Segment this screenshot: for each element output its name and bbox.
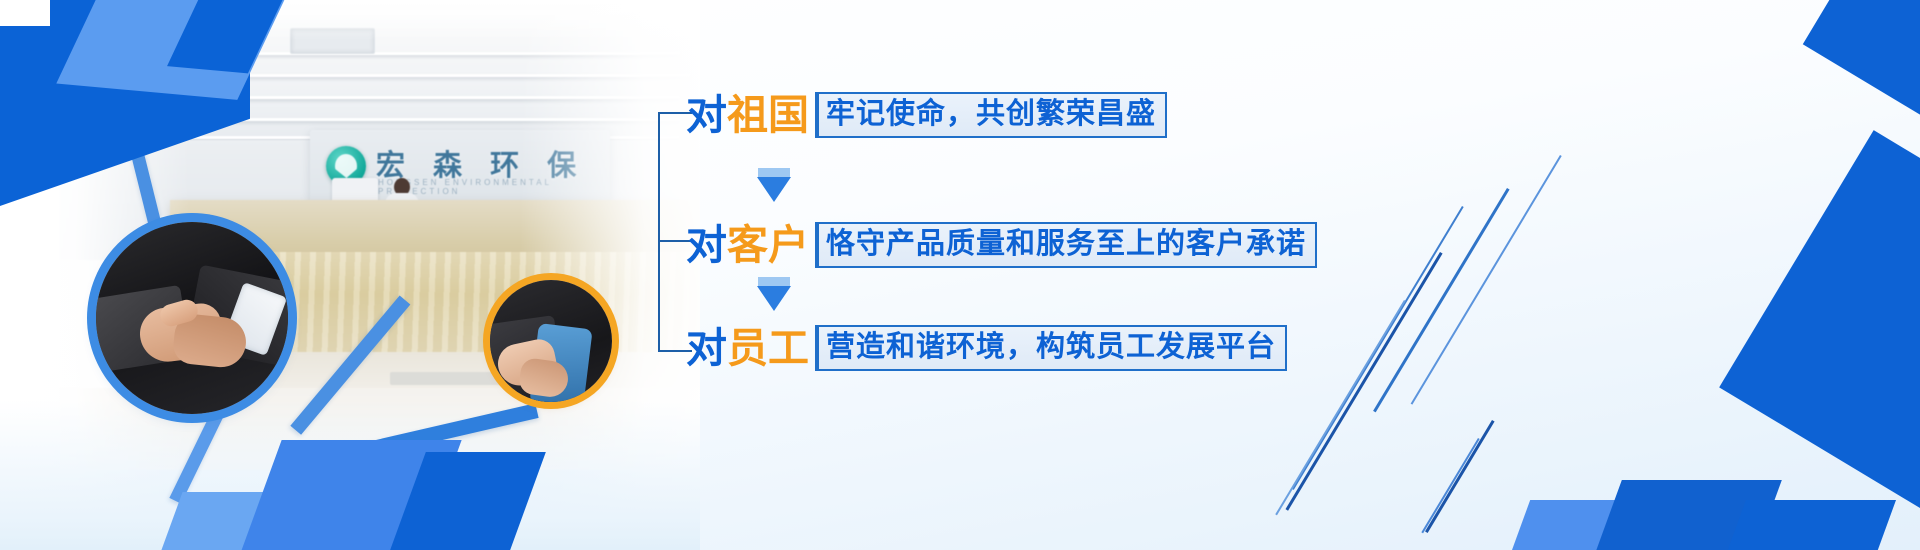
- arrow-down-icon: [754, 168, 794, 202]
- slogan-lead-highlight-2: 客户: [727, 222, 809, 268]
- slogan-lead-3: 对员工: [686, 328, 809, 369]
- decor-line-6: [1425, 420, 1495, 533]
- slogan-row-2: 对客户 恪守产品质量和服务至上的客户承诺: [686, 222, 1317, 268]
- slogan-row-1: 对祖国 牢记使命，共创繁荣昌盛: [686, 92, 1167, 138]
- slogan-block: 对祖国 牢记使命，共创繁荣昌盛 对客户 恪守产品质量和服务至上的客户承诺 对员工…: [650, 0, 1430, 550]
- slogan-row-3: 对员工 营造和谐环境，构筑员工发展平台: [686, 325, 1287, 371]
- decor-line-4: [1411, 155, 1562, 405]
- slogan-lead-prefix-2: 对: [686, 222, 727, 268]
- slogan-text-2: 恪守产品质量和服务至上的客户承诺: [815, 222, 1317, 268]
- slogan-lead-prefix-3: 对: [686, 325, 727, 371]
- slogan-lead-1: 对祖国: [686, 95, 809, 136]
- brace-vertical-line: [658, 112, 660, 352]
- corporate-banner: 宏 森 环 保 HONGSEN ENVIRONMENTAL PROTECTION: [0, 0, 1920, 550]
- handshake-photo: [96, 222, 288, 414]
- team-clap-photo: [490, 280, 612, 402]
- decor-topleft-notch: [0, 0, 50, 26]
- slogan-lead-highlight-3: 员工: [727, 325, 809, 371]
- slogan-lead-2: 对客户: [686, 225, 809, 266]
- slogan-lead-highlight-1: 祖国: [727, 92, 809, 138]
- slogan-text-3: 营造和谐环境，构筑员工发展平台: [815, 325, 1287, 371]
- arrow-down-icon: [754, 277, 794, 311]
- slogan-lead-prefix-1: 对: [686, 92, 727, 138]
- slogan-text-1: 牢记使命，共创繁荣昌盛: [815, 92, 1167, 138]
- decor-line-7: [1421, 438, 1479, 533]
- decor-right-small-diamond: [1803, 0, 1920, 147]
